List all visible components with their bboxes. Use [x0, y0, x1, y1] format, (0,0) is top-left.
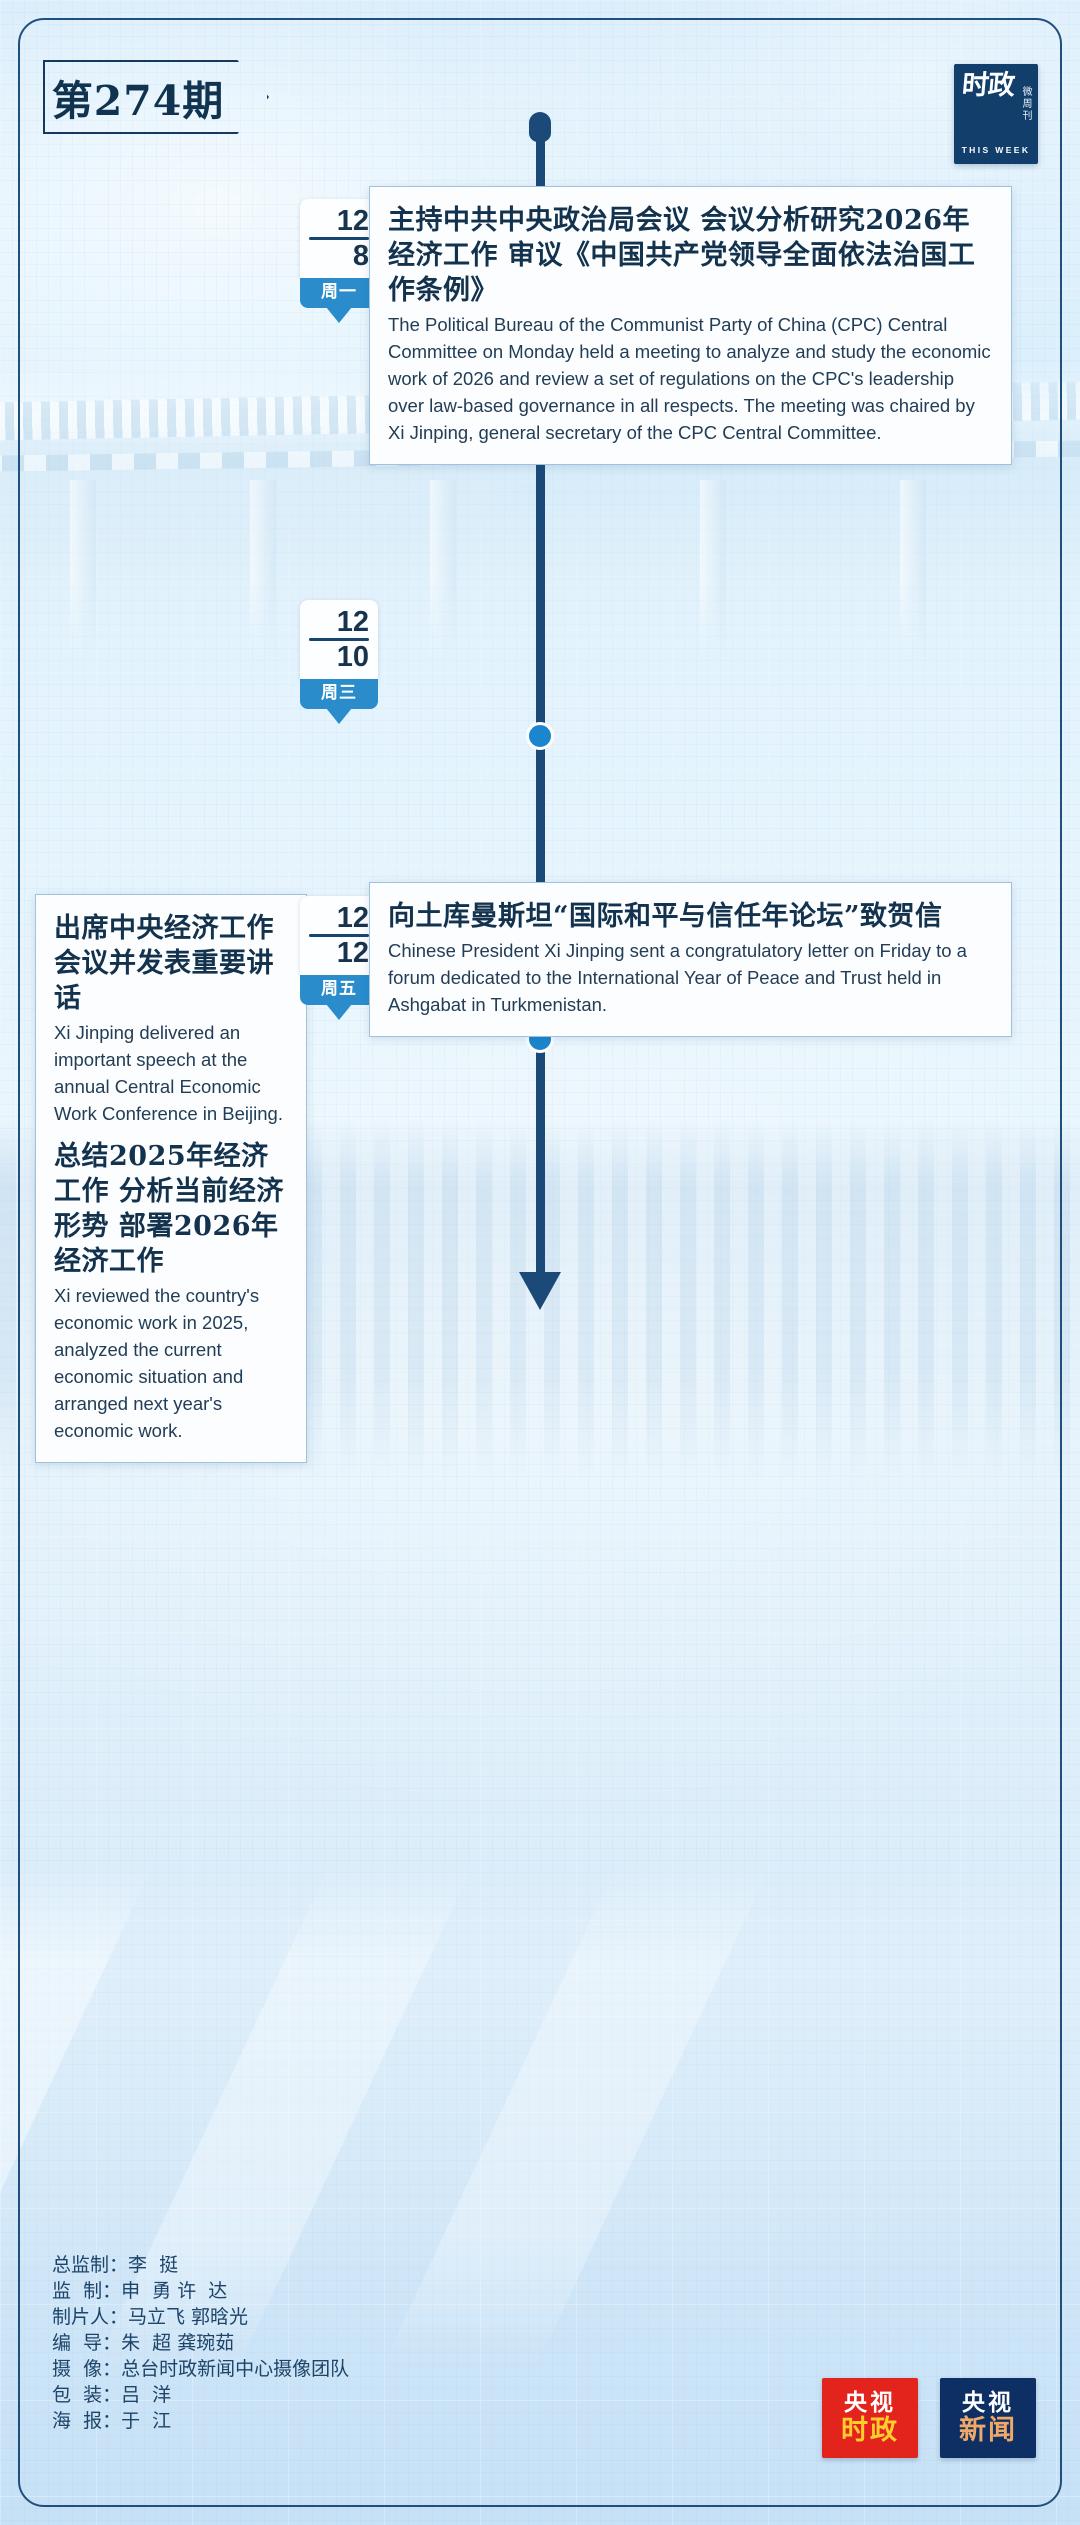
- logo-cctv-shizheng: 央视 时政: [822, 2378, 918, 2458]
- footer-logos: 央视 时政 央视 新闻: [822, 2378, 1036, 2458]
- issue-number-badge: 第274期: [43, 60, 269, 134]
- logo-cctv-shizheng-line1: 央视: [844, 2390, 896, 2416]
- masthead-subtitle-zh: 微周刊: [1020, 86, 1031, 122]
- event-card-1-title-zh: 主持中共中央政治局会议 会议分析研究2026年经济工作 审议《中国共产党领导全面…: [388, 203, 993, 308]
- logo-cctv-xinwen: 央视 新闻: [940, 2378, 1036, 2458]
- masthead-title-en: THIS WEEK: [962, 145, 1031, 155]
- logo-cctv-xinwen-line2: 新闻: [959, 2416, 1017, 2446]
- event-card-1-body-en: The Political Bureau of the Communist Pa…: [388, 311, 993, 446]
- date-chip-1-weekday: 周一: [300, 278, 378, 308]
- date-chip-1: 12 8 周一: [300, 199, 378, 308]
- masthead-logo: 时政 微周刊 THIS WEEK: [954, 64, 1038, 164]
- event-card-2-body-en-a: Xi Jinping delivered an important speech…: [54, 1019, 288, 1127]
- timeline-node-2: [526, 722, 554, 750]
- date-chip-1-month: 12: [309, 206, 369, 236]
- date-chip-1-day: 8: [309, 241, 369, 272]
- event-card-3-body-en: Chinese President Xi Jinping sent a cong…: [388, 937, 993, 1018]
- logo-cctv-shizheng-line2: 时政: [841, 2416, 899, 2446]
- credits-block: 总监制：李 挺 监 制：申 勇 许 达 制片人：马立飞 郭晗光 编 导：朱 超 …: [52, 2252, 349, 2434]
- date-chip-2: 12 10 周三: [300, 600, 378, 709]
- logo-cctv-xinwen-line1: 央视: [962, 2390, 1014, 2416]
- date-chip-3-day: 12: [309, 938, 369, 969]
- date-chip-2-box: 12 10: [300, 600, 378, 679]
- event-card-2: 出席中央经济工作会议并发表重要讲话 Xi Jinping delivered a…: [35, 894, 307, 1463]
- date-chip-3-tail-icon: [326, 1004, 352, 1020]
- date-chip-3-month: 12: [309, 903, 369, 933]
- issue-number-label: 第274期: [43, 60, 233, 134]
- event-card-3-title-zh: 向土库曼斯坦“国际和平与信任年论坛”致贺信: [388, 899, 993, 934]
- event-card-1: 主持中共中央政治局会议 会议分析研究2026年经济工作 审议《中国共产党领导全面…: [369, 186, 1012, 465]
- date-chip-3: 12 12 周五: [300, 896, 378, 1005]
- event-card-2-body-en-b: Xi reviewed the country's economic work …: [54, 1282, 288, 1444]
- date-chip-2-weekday: 周三: [300, 679, 378, 709]
- event-card-3: 向土库曼斯坦“国际和平与信任年论坛”致贺信 Chinese President …: [369, 882, 1012, 1037]
- date-chip-3-weekday: 周五: [300, 975, 378, 1005]
- date-chip-2-day: 10: [309, 642, 369, 673]
- event-card-2-title-zh-a: 出席中央经济工作会议并发表重要讲话: [54, 911, 288, 1016]
- date-chip-2-month: 12: [309, 607, 369, 637]
- timeline-arrow-icon: [519, 1272, 561, 1310]
- date-chip-1-tail-icon: [326, 307, 352, 323]
- date-chip-1-box: 12 8: [300, 199, 378, 278]
- masthead-title-zh: 时政: [961, 73, 1015, 99]
- date-chip-3-box: 12 12: [300, 896, 378, 975]
- date-chip-2-tail-icon: [326, 708, 352, 724]
- poster-root: 第274期 时政 微周刊 THIS WEEK 12 8 周一 主持中共中央政治局…: [0, 0, 1080, 2525]
- event-card-2-title-zh-b: 总结2025年经济工作 分析当前经济形势 部署2026年经济工作: [54, 1139, 288, 1279]
